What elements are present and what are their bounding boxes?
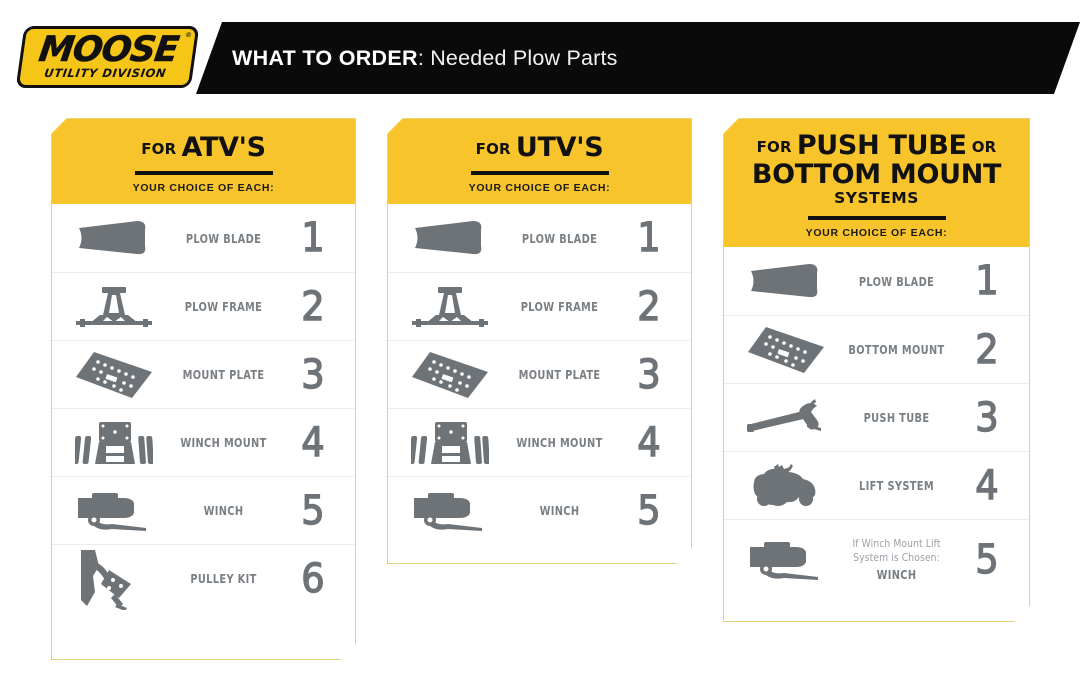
card-push-subtitle: YOUR CHOICE OF EACH: — [736, 227, 1017, 239]
list-item[interactable]: MOUNT PLATE 3 — [52, 340, 355, 408]
list-item-label: PLOW BLADE — [842, 274, 952, 289]
list-item[interactable]: WINCH 5 — [388, 476, 691, 544]
list-item-label: PLOW FRAME — [505, 299, 613, 314]
list-item[interactable]: PLOW BLADE 1 — [724, 247, 1029, 315]
list-item-label: LIFT SYSTEM — [842, 478, 952, 493]
card-utv-divider — [471, 171, 609, 175]
list-item[interactable]: PUSH TUBE 3 — [724, 383, 1029, 451]
card-push-divider — [808, 216, 946, 220]
list-item[interactable]: PLOW BLADE 1 — [388, 204, 691, 272]
card-push-title-suffix: SYSTEMS — [834, 189, 919, 207]
list-item-number: 4 — [623, 423, 675, 463]
page-title: WHAT TO ORDER: Needed Plow Parts — [232, 46, 618, 71]
mount-plate-icon — [66, 341, 162, 408]
plow-frame-icon — [402, 273, 498, 340]
page-title-strong: WHAT TO ORDER — [232, 46, 418, 70]
list-item-number: 1 — [623, 218, 675, 258]
list-item-label: WINCH — [169, 503, 277, 518]
card-utv: FOR UTV'S YOUR CHOICE OF EACH: PLOW BLAD… — [387, 118, 692, 564]
list-item-note: If Winch Mount Lift System is Chosen: — [838, 537, 955, 565]
card-push-title-prefix: FOR — [757, 138, 792, 156]
list-item-number: 3 — [961, 398, 1013, 438]
list-item-label: PLOW BLADE — [169, 231, 277, 246]
winch-icon — [738, 520, 834, 599]
list-item[interactable]: LIFT SYSTEM 4 — [724, 451, 1029, 519]
card-atv-header: FOR ATV'S YOUR CHOICE OF EACH: — [52, 119, 355, 204]
list-item[interactable]: BOTTOM MOUNT 2 — [724, 315, 1029, 383]
list-item-label: WINCH — [877, 567, 917, 582]
list-item-number: 1 — [961, 261, 1013, 301]
list-item-label: MOUNT PLATE — [169, 367, 277, 382]
card-push-title: FOR PUSH TUBE OR BOTTOM MOUNT SYSTEMS — [736, 131, 1017, 207]
list-item-number: 3 — [623, 355, 675, 395]
card-utv-title-main: UTV'S — [516, 132, 603, 163]
list-item-number: 2 — [623, 287, 675, 327]
card-push-title-conjunction: OR — [972, 138, 997, 156]
page-title-light: : Needed Plow Parts — [418, 46, 618, 70]
list-item-number: 2 — [961, 330, 1013, 370]
lift-system-icon — [738, 452, 834, 519]
card-utv-header: FOR UTV'S YOUR CHOICE OF EACH: — [388, 119, 691, 204]
list-item[interactable]: WINCH MOUNT 4 — [52, 408, 355, 476]
card-push-tube-bottom-mount: FOR PUSH TUBE OR BOTTOM MOUNT SYSTEMS YO… — [723, 118, 1030, 622]
card-atv-rows: PLOW BLADE 1 — [52, 204, 355, 612]
list-item[interactable]: WINCH 5 — [52, 476, 355, 544]
list-item-number: 5 — [961, 540, 1013, 580]
card-utv-subtitle: YOUR CHOICE OF EACH: — [402, 182, 677, 194]
list-item-label: PLOW FRAME — [169, 299, 277, 314]
list-item[interactable]: PLOW FRAME 2 — [388, 272, 691, 340]
card-atv-subtitle: YOUR CHOICE OF EACH: — [66, 182, 341, 194]
card-atv-title: FOR ATV'S — [66, 133, 341, 162]
list-item-number: 5 — [623, 491, 675, 531]
logo-tagline-text: UTILITY DIVISION — [43, 67, 167, 80]
list-item-label-with-note: If Winch Mount Lift System is Chosen: WI… — [842, 537, 952, 582]
list-item-label: PUSH TUBE — [842, 410, 952, 425]
list-item[interactable]: MOUNT PLATE 3 — [388, 340, 691, 408]
registered-trademark-icon: ® — [185, 32, 191, 39]
card-push-title-main: PUSH TUBE — [797, 130, 967, 161]
list-item-label: MOUNT PLATE — [505, 367, 613, 382]
list-item-label: BOTTOM MOUNT — [842, 342, 952, 357]
list-item[interactable]: WINCH MOUNT 4 — [388, 408, 691, 476]
card-atv: FOR ATV'S YOUR CHOICE OF EACH: PLOW BLAD… — [51, 118, 356, 660]
plow-frame-icon — [66, 273, 162, 340]
card-push-rows: PLOW BLADE 1 — [724, 247, 1029, 599]
winch-mount-icon — [402, 409, 498, 476]
list-item-number: 3 — [287, 355, 339, 395]
plow-blade-icon — [402, 204, 498, 272]
list-item-label: WINCH MOUNT — [505, 435, 613, 450]
list-item[interactable]: PLOW BLADE 1 — [52, 204, 355, 272]
moose-utility-division-logo: MOOSE UTILITY DIVISION ® — [20, 26, 195, 88]
bottom-mount-icon — [738, 316, 834, 383]
list-item-number: 1 — [287, 218, 339, 258]
logo-inner: MOOSE UTILITY DIVISION ® — [16, 26, 200, 88]
list-item-number: 4 — [287, 423, 339, 463]
mount-plate-icon — [402, 341, 498, 408]
card-atv-title-prefix: FOR — [141, 140, 176, 158]
card-atv-divider — [135, 171, 273, 175]
card-push-header: FOR PUSH TUBE OR BOTTOM MOUNT SYSTEMS YO… — [724, 119, 1029, 247]
list-item[interactable]: PLOW FRAME 2 — [52, 272, 355, 340]
list-item[interactable]: If Winch Mount Lift System is Chosen: WI… — [724, 519, 1029, 599]
list-item-number: 4 — [961, 466, 1013, 506]
winch-icon — [66, 477, 162, 544]
push-tube-icon — [738, 384, 834, 451]
card-push-title-main2: BOTTOM MOUNT — [752, 159, 1001, 190]
winch-mount-icon — [66, 409, 162, 476]
plow-blade-icon — [738, 247, 834, 315]
list-item-label: WINCH — [505, 503, 613, 518]
logo-brand-text: MOOSE — [37, 34, 180, 66]
infographic-page: MOOSE UTILITY DIVISION ® WHAT TO ORDER: … — [0, 0, 1080, 691]
list-item-label: PLOW BLADE — [505, 231, 613, 246]
plow-blade-icon — [66, 204, 162, 272]
list-item-number: 2 — [287, 287, 339, 327]
card-utv-title: FOR UTV'S — [402, 133, 677, 162]
header-banner: WHAT TO ORDER: Needed Plow Parts — [196, 22, 1080, 94]
pulley-kit-icon — [66, 545, 162, 612]
list-item-number: 6 — [287, 559, 339, 599]
card-utv-rows: PLOW BLADE 1 — [388, 204, 691, 544]
list-item-number: 5 — [287, 491, 339, 531]
list-item[interactable]: PULLEY KIT 6 — [52, 544, 355, 612]
winch-icon — [402, 477, 498, 544]
list-item-label: WINCH MOUNT — [169, 435, 277, 450]
card-atv-title-main: ATV'S — [181, 132, 265, 163]
list-item-label: PULLEY KIT — [169, 571, 277, 586]
card-utv-title-prefix: FOR — [476, 140, 511, 158]
page-header: MOOSE UTILITY DIVISION ® WHAT TO ORDER: … — [0, 22, 1080, 94]
